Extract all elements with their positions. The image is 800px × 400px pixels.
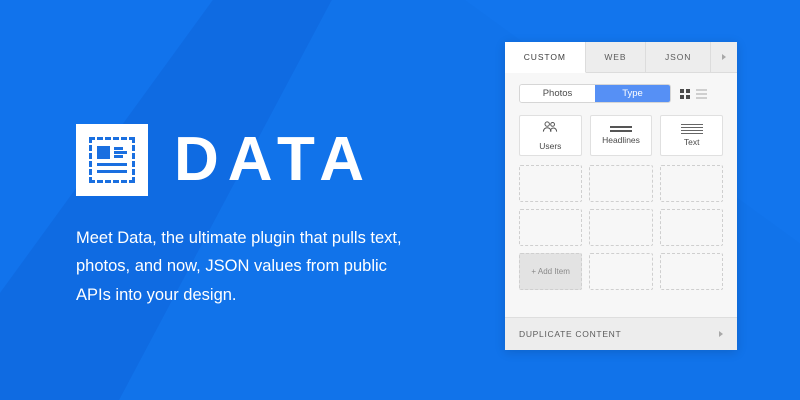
panel-body: Photos Type bbox=[505, 73, 737, 317]
plugin-panel: CUSTOM WEB JSON Photos Type bbox=[505, 42, 737, 350]
item-slot[interactable] bbox=[660, 165, 723, 202]
panel-footer[interactable]: DUPLICATE CONTENT bbox=[505, 317, 737, 350]
filter-row: Photos Type bbox=[519, 84, 723, 103]
view-toggle-group bbox=[680, 89, 707, 99]
data-selection-icon bbox=[89, 137, 135, 183]
panel-tabbar: CUSTOM WEB JSON bbox=[505, 42, 737, 73]
card-text[interactable]: Text bbox=[660, 115, 723, 156]
tab-custom[interactable]: CUSTOM bbox=[505, 42, 586, 73]
users-icon bbox=[542, 120, 558, 138]
item-slot[interactable] bbox=[589, 209, 652, 246]
tab-overflow-button[interactable] bbox=[711, 42, 737, 72]
item-slot[interactable] bbox=[660, 209, 723, 246]
headlines-icon bbox=[610, 126, 632, 131]
tab-web[interactable]: WEB bbox=[586, 42, 647, 72]
hero-heading-row: DATA bbox=[76, 124, 476, 196]
card-headlines[interactable]: Headlines bbox=[590, 115, 653, 156]
card-label-text: Text bbox=[684, 137, 700, 147]
tab-json[interactable]: JSON bbox=[646, 42, 711, 72]
item-slot[interactable] bbox=[589, 165, 652, 202]
segment-photos[interactable]: Photos bbox=[520, 85, 595, 102]
segment-type[interactable]: Type bbox=[595, 85, 670, 102]
logo-icon-top-row bbox=[97, 146, 127, 159]
data-logo-mark bbox=[76, 124, 148, 196]
content-card-row: Users Headlines Text bbox=[519, 115, 723, 156]
item-slot[interactable] bbox=[660, 253, 723, 290]
text-lines-icon bbox=[681, 124, 703, 135]
logo-text-lines-right bbox=[114, 146, 127, 159]
card-label-users: Users bbox=[539, 141, 561, 151]
item-slot[interactable] bbox=[519, 165, 582, 202]
hero-description: Meet Data, the ultimate plugin that pull… bbox=[76, 224, 406, 309]
item-slot-grid: + Add Item bbox=[519, 165, 723, 290]
list-view-icon[interactable] bbox=[696, 89, 707, 99]
item-slot[interactable] bbox=[519, 209, 582, 246]
chevron-right-icon bbox=[722, 54, 726, 60]
content-type-segmented-control[interactable]: Photos Type bbox=[519, 84, 671, 103]
logo-text-lines-bottom bbox=[97, 163, 127, 173]
card-label-headlines: Headlines bbox=[602, 135, 640, 145]
grid-view-icon[interactable] bbox=[680, 89, 690, 99]
promo-banner: DATA Meet Data, the ultimate plugin that… bbox=[0, 0, 800, 400]
chevron-right-icon[interactable] bbox=[719, 331, 723, 337]
add-item-button[interactable]: + Add Item bbox=[519, 253, 582, 290]
wordmark: DATA bbox=[174, 129, 373, 191]
duplicate-content-label: DUPLICATE CONTENT bbox=[519, 329, 719, 339]
item-slot[interactable] bbox=[589, 253, 652, 290]
hero-section: DATA Meet Data, the ultimate plugin that… bbox=[76, 124, 476, 326]
card-users[interactable]: Users bbox=[519, 115, 582, 156]
logo-image-block bbox=[97, 146, 110, 159]
